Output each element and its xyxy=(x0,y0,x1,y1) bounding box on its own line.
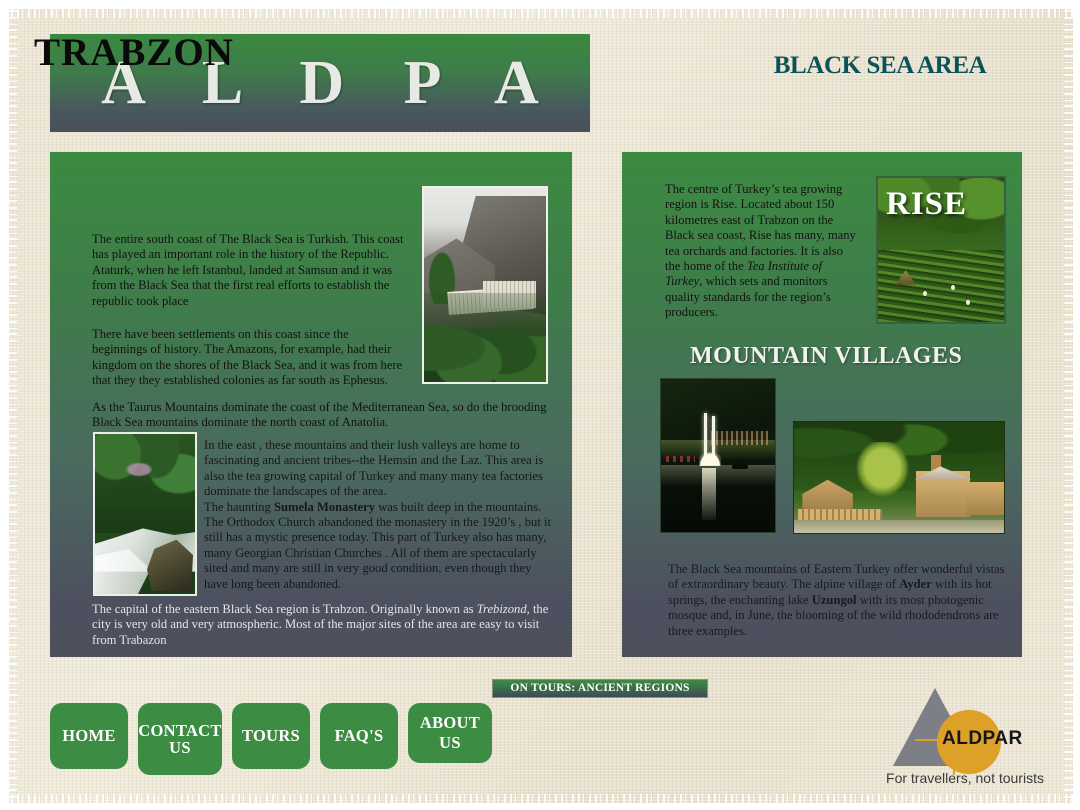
uzungol-lake-photo xyxy=(660,378,776,533)
mountain-villages-paragraph: The Black Sea mountains of Eastern Turke… xyxy=(668,562,1013,639)
sumela-monastery-emphasis: Sumela Monastery xyxy=(274,500,375,514)
paper-edge-right xyxy=(1073,0,1080,810)
trabzon-paragraph-3: As the Taurus Mountains dominate the coa… xyxy=(92,400,552,431)
nav-button-home[interactable]: HOME xyxy=(50,703,128,769)
uzungol-emphasis: Uzungol xyxy=(812,593,857,607)
paper-edge-top xyxy=(0,0,1080,9)
trabzon-p4-text-b: The haunting xyxy=(204,500,274,514)
logo-wordmark: ALDPAR xyxy=(942,728,1023,750)
nav-button-contact-us[interactable]: CONTACT US xyxy=(138,703,222,775)
trabzon-p5-text-a: The capital of the eastern Black Sea reg… xyxy=(92,602,477,616)
section-title-mountain-villages: MOUNTAIN VILLAGES xyxy=(690,343,962,370)
trabzon-paragraph-4: In the east , these mountains and their … xyxy=(204,438,554,592)
logo-tagline: For travellers, not tourists xyxy=(880,770,1050,786)
nav-button-faqs[interactable]: FAQ'S xyxy=(320,703,398,769)
wooden-village-photo xyxy=(793,421,1005,534)
page-root: A L D P A R BLACK SEA AREA TRABZON The e… xyxy=(0,0,1080,810)
trabzon-p4-text-a: In the east , these mountains and their … xyxy=(204,438,543,498)
paper-edge-bottom xyxy=(0,803,1080,810)
trebizond-emphasis: Trebizond xyxy=(477,602,527,616)
paper-edge-left xyxy=(0,0,9,810)
trabzon-paragraph-1: The entire south coast of The Black Sea … xyxy=(92,232,410,309)
waterfall-forest-photo xyxy=(93,432,197,596)
rise-paragraph: The centre of Turkey’s tea growing regio… xyxy=(665,182,861,321)
section-title-trabzon: TRABZON xyxy=(34,30,234,75)
on-tours-banner[interactable]: ON TOURS: ANCIENT REGIONS xyxy=(492,679,708,698)
trabzon-paragraph-5: The capital of the eastern Black Sea reg… xyxy=(92,602,552,648)
page-title: BLACK SEA AREA xyxy=(700,52,1060,80)
trabzon-paragraph-2: There have been settlements on this coas… xyxy=(92,327,404,389)
sumela-monastery-photo xyxy=(422,186,548,384)
nav-button-tours[interactable]: TOURS xyxy=(232,703,310,769)
aldpar-logo[interactable]: ALDPAR For travellers, not tourists xyxy=(880,688,1050,798)
nav-button-about-us[interactable]: ABOUT US xyxy=(408,703,492,763)
section-title-rise: RISE xyxy=(886,186,967,223)
ayder-emphasis: Ayder xyxy=(899,577,932,591)
